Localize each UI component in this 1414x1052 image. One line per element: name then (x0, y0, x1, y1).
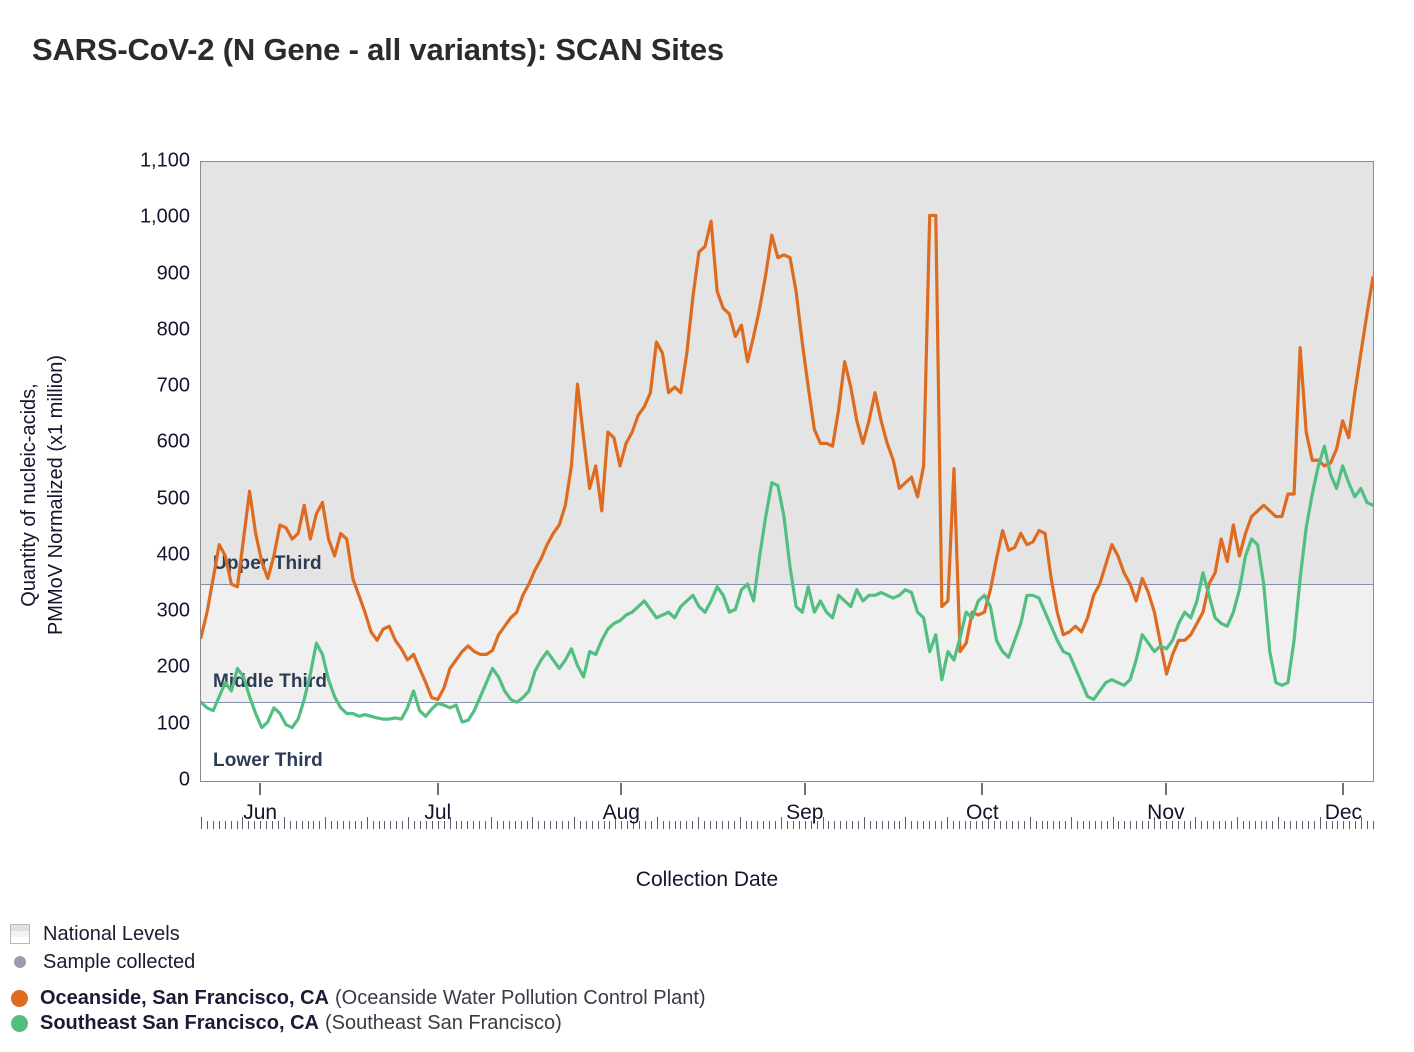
series-lines (201, 162, 1373, 781)
sample-dot-icon (14, 956, 26, 968)
x-minor-tick (1255, 821, 1256, 829)
x-minor-tick (941, 821, 942, 829)
x-minor-tick (1219, 821, 1220, 829)
x-minor-tick (1071, 817, 1072, 829)
x-minor-tick (669, 821, 670, 829)
x-minor-tick (532, 817, 533, 829)
x-minor-tick (1373, 821, 1374, 829)
x-minor-tick (213, 821, 214, 829)
x-minor-tick (1142, 821, 1143, 829)
x-minor-tick (331, 821, 332, 829)
x-minor-tick (343, 821, 344, 829)
chart-title: SARS-CoV-2 (N Gene - all variants): SCAN… (32, 32, 724, 68)
x-minor-tick (367, 817, 368, 829)
x-minor-tick (746, 821, 747, 829)
x-minor-tick (651, 821, 652, 829)
x-minor-tick (911, 821, 912, 829)
x-minor-tick (497, 821, 498, 829)
y-tick-label: 1,000 (110, 206, 190, 229)
x-minor-tick (1053, 821, 1054, 829)
x-minor-tick (1225, 821, 1226, 829)
x-minor-tick (1077, 821, 1078, 829)
y-axis-title: Quantity of nucleic-acids, PMMoV Normali… (16, 285, 70, 705)
legend-row-sample-collected[interactable]: Sample collected (10, 948, 910, 976)
x-minor-tick (852, 821, 853, 829)
x-minor-tick (1124, 821, 1125, 829)
y-tick-label: 1,100 (110, 150, 190, 173)
legend-series-1-name: Southeast San Francisco, CA (40, 1012, 319, 1035)
x-major-tick (981, 783, 983, 795)
x-minor-tick (1207, 821, 1208, 829)
x-major-tick (437, 783, 439, 795)
x-minor-tick (1042, 821, 1043, 829)
x-minor-tick (598, 821, 599, 829)
x-minor-tick (657, 817, 658, 829)
x-minor-tick (461, 821, 462, 829)
legend-series-0-detail: (Oceanside Water Pollution Control Plant… (335, 987, 706, 1010)
x-minor-tick (503, 821, 504, 829)
x-minor-tick (663, 821, 664, 829)
y-tick-label: 100 (110, 712, 190, 735)
x-minor-tick (390, 821, 391, 829)
x-minor-tick (379, 821, 380, 829)
x-minor-tick (698, 817, 699, 829)
chart-root: SARS-CoV-2 (N Gene - all variants): SCAN… (0, 0, 1414, 1052)
x-minor-tick (905, 817, 906, 829)
x-minor-tick (313, 821, 314, 829)
legend-label-national-levels: National Levels (43, 923, 180, 946)
x-minor-tick (414, 821, 415, 829)
x-minor-tick (1308, 821, 1309, 829)
x-minor-tick (1302, 821, 1303, 829)
x-minor-tick (384, 821, 385, 829)
x-minor-tick (870, 821, 871, 829)
x-minor-tick (882, 821, 883, 829)
x-minor-tick (1278, 817, 1279, 829)
x-tick-label: Jul (424, 801, 451, 825)
y-tick-label: 500 (110, 487, 190, 510)
x-minor-tick (527, 821, 528, 829)
y-axis-title-line2: PMMoV Normalized (x1 million) (45, 355, 67, 635)
x-minor-tick (1006, 821, 1007, 829)
legend-series-0-name: Oceanside, San Francisco, CA (40, 987, 329, 1010)
x-major-tick (1342, 783, 1344, 795)
x-minor-tick (645, 821, 646, 829)
x-minor-tick (953, 821, 954, 829)
y-axis-tick-labels: 01002003004005006007008009001,0001,100 (100, 161, 190, 782)
y-tick-label: 800 (110, 318, 190, 341)
x-minor-tick (509, 821, 510, 829)
x-minor-tick (1314, 821, 1315, 829)
x-minor-tick (556, 821, 557, 829)
x-minor-tick (846, 821, 847, 829)
x-minor-tick (225, 821, 226, 829)
x-minor-tick (278, 821, 279, 829)
x-minor-tick (1249, 821, 1250, 829)
x-minor-tick (296, 821, 297, 829)
x-minor-tick (355, 821, 356, 829)
y-tick-label: 400 (110, 543, 190, 566)
x-minor-tick (1107, 821, 1108, 829)
x-minor-tick (402, 821, 403, 829)
x-minor-tick (1290, 821, 1291, 829)
y-tick-label: 200 (110, 656, 190, 679)
legend: National Levels Sample collected Oceansi… (10, 920, 910, 1036)
x-minor-tick (1261, 821, 1262, 829)
x-axis-ticks: JunJulAugSepOctNovDec (200, 783, 1374, 829)
y-tick-label: 0 (110, 769, 190, 792)
x-minor-tick (574, 817, 575, 829)
x-minor-tick (420, 821, 421, 829)
x-minor-tick (201, 817, 202, 829)
x-minor-tick (828, 821, 829, 829)
x-minor-tick (207, 821, 208, 829)
x-axis-title: Collection Date (0, 868, 1414, 892)
x-minor-tick (675, 821, 676, 829)
x-minor-tick (544, 821, 545, 829)
x-minor-tick (1101, 821, 1102, 829)
x-minor-tick (237, 821, 238, 829)
y-tick-label: 900 (110, 262, 190, 285)
x-minor-tick (1190, 821, 1191, 829)
x-minor-tick (550, 821, 551, 829)
x-minor-tick (562, 821, 563, 829)
x-major-tick (804, 783, 806, 795)
x-minor-tick (337, 821, 338, 829)
x-minor-tick (917, 821, 918, 829)
x-major-tick (620, 783, 622, 795)
legend-label-sample-collected: Sample collected (43, 951, 195, 974)
x-minor-tick (473, 821, 474, 829)
legend-row-series-0[interactable]: Oceanside, San Francisco, CA (Oceanside … (10, 986, 910, 1011)
y-tick-label: 600 (110, 431, 190, 454)
x-minor-tick (686, 821, 687, 829)
x-minor-tick (580, 821, 581, 829)
series-0-color-icon (11, 990, 28, 1007)
x-minor-tick (929, 821, 930, 829)
x-minor-tick (1320, 817, 1321, 829)
x-minor-tick (769, 821, 770, 829)
x-minor-tick (1195, 817, 1196, 829)
x-tick-label: Sep (786, 801, 823, 825)
x-minor-tick (1089, 821, 1090, 829)
x-minor-tick (1030, 817, 1031, 829)
x-minor-tick (923, 821, 924, 829)
x-minor-tick (1118, 821, 1119, 829)
x-minor-tick (1266, 821, 1267, 829)
x-minor-tick (456, 821, 457, 829)
plot-area[interactable]: Upper Third Middle Third Lower Third (200, 161, 1374, 782)
x-minor-tick (290, 821, 291, 829)
x-tick-label: Nov (1147, 801, 1184, 825)
x-minor-tick (485, 821, 486, 829)
x-major-tick (259, 783, 261, 795)
legend-row-national-levels[interactable]: National Levels (10, 920, 910, 948)
x-minor-tick (349, 821, 350, 829)
x-minor-tick (308, 821, 309, 829)
x-minor-tick (775, 821, 776, 829)
x-tick-label: Dec (1325, 801, 1362, 825)
x-minor-tick (325, 817, 326, 829)
x-minor-tick (319, 821, 320, 829)
x-minor-tick (586, 821, 587, 829)
series-1-color-icon (11, 1015, 28, 1032)
x-minor-tick (538, 821, 539, 829)
x-minor-tick (888, 821, 889, 829)
x-minor-tick (728, 821, 729, 829)
x-minor-tick (722, 821, 723, 829)
x-minor-tick (1130, 821, 1131, 829)
x-minor-tick (1272, 821, 1273, 829)
x-minor-tick (894, 821, 895, 829)
x-minor-tick (734, 821, 735, 829)
x-minor-tick (947, 817, 948, 829)
x-minor-tick (479, 821, 480, 829)
x-minor-tick (876, 821, 877, 829)
x-minor-tick (1083, 821, 1084, 829)
y-axis-title-line1: Quantity of nucleic-acids, (18, 383, 40, 606)
legend-series-1-detail: (Southeast San Francisco) (325, 1012, 562, 1035)
y-tick-label: 700 (110, 375, 190, 398)
x-tick-label: Oct (966, 801, 999, 825)
x-minor-tick (781, 817, 782, 829)
x-minor-tick (1000, 821, 1001, 829)
x-minor-tick (834, 821, 835, 829)
x-minor-tick (858, 821, 859, 829)
x-minor-tick (231, 821, 232, 829)
x-minor-tick (763, 821, 764, 829)
x-minor-tick (1367, 821, 1368, 829)
x-minor-tick (1018, 821, 1019, 829)
x-minor-tick (751, 821, 752, 829)
x-minor-tick (899, 821, 900, 829)
x-minor-tick (757, 821, 758, 829)
x-minor-tick (840, 821, 841, 829)
x-minor-tick (1231, 821, 1232, 829)
x-minor-tick (1065, 821, 1066, 829)
x-minor-tick (1284, 821, 1285, 829)
x-minor-tick (467, 821, 468, 829)
x-minor-tick (710, 821, 711, 829)
series-line-0 (201, 215, 1373, 699)
x-minor-tick (704, 821, 705, 829)
x-minor-tick (692, 821, 693, 829)
x-minor-tick (361, 821, 362, 829)
x-minor-tick (1201, 821, 1202, 829)
x-minor-tick (1237, 817, 1238, 829)
x-minor-tick (959, 821, 960, 829)
x-minor-tick (680, 821, 681, 829)
x-minor-tick (1036, 821, 1037, 829)
x-major-tick (1165, 783, 1167, 795)
x-minor-tick (219, 821, 220, 829)
series-line-1 (201, 446, 1373, 727)
x-minor-tick (515, 821, 516, 829)
x-minor-tick (1213, 821, 1214, 829)
x-minor-tick (864, 817, 865, 829)
x-minor-tick (1113, 817, 1114, 829)
x-minor-tick (373, 821, 374, 829)
x-minor-tick (1296, 821, 1297, 829)
x-minor-tick (1024, 821, 1025, 829)
x-minor-tick (408, 817, 409, 829)
x-tick-label: Aug (603, 801, 640, 825)
x-minor-tick (740, 817, 741, 829)
x-minor-tick (568, 821, 569, 829)
x-minor-tick (1059, 821, 1060, 829)
x-minor-tick (1095, 821, 1096, 829)
y-tick-label: 300 (110, 600, 190, 623)
x-minor-tick (302, 821, 303, 829)
x-minor-tick (1136, 821, 1137, 829)
x-minor-tick (716, 821, 717, 829)
x-minor-tick (396, 821, 397, 829)
x-minor-tick (521, 821, 522, 829)
x-minor-tick (284, 817, 285, 829)
x-minor-tick (1012, 821, 1013, 829)
x-minor-tick (1047, 821, 1048, 829)
x-minor-tick (1243, 821, 1244, 829)
legend-row-series-1[interactable]: Southeast San Francisco, CA (Southeast S… (10, 1011, 910, 1036)
x-tick-label: Jun (243, 801, 277, 825)
x-minor-tick (592, 821, 593, 829)
national-levels-icon (10, 924, 30, 944)
x-minor-tick (491, 817, 492, 829)
x-minor-tick (935, 821, 936, 829)
